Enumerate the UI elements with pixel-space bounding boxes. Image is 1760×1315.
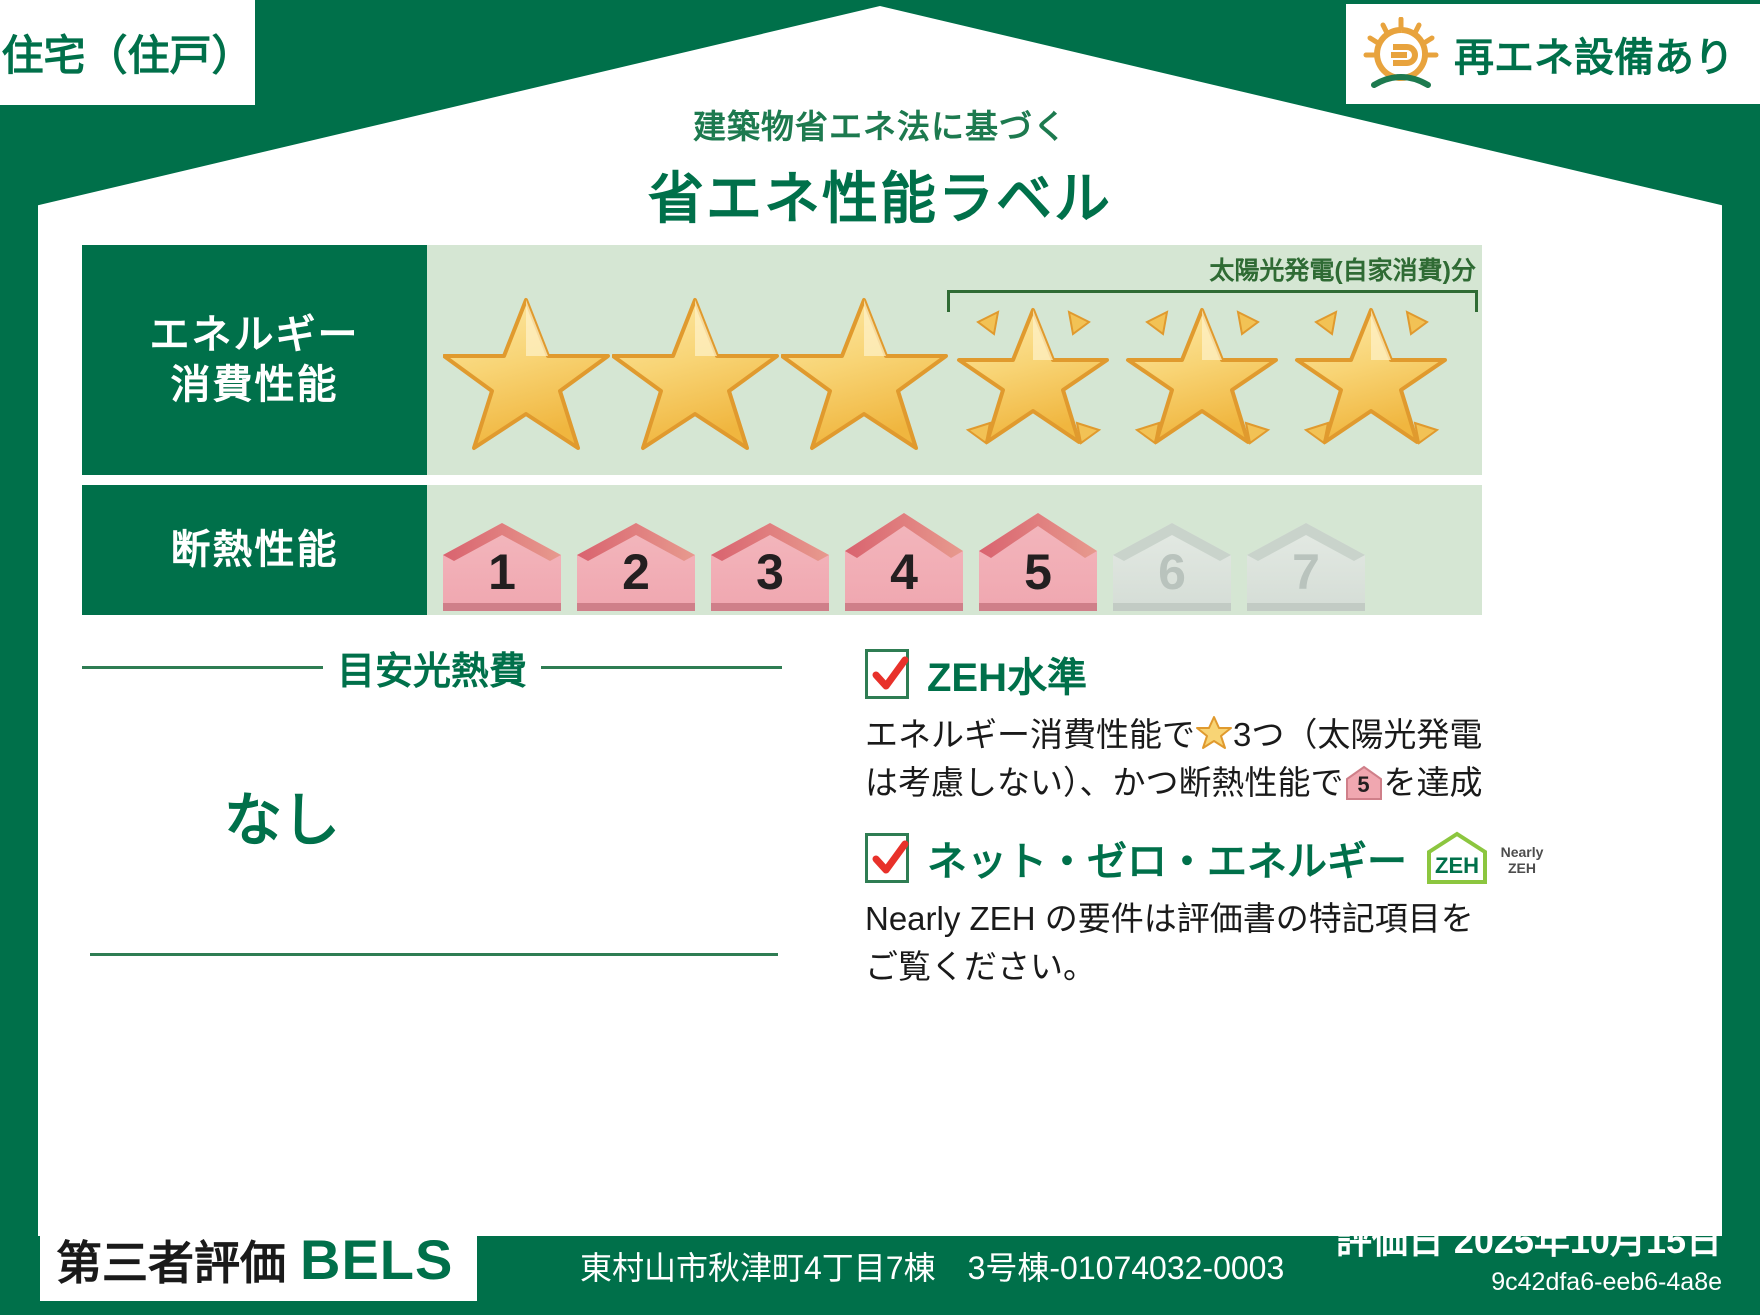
energy-performance-value: 太陽光発電(自家消費)分: [427, 245, 1482, 475]
zeh-desc-part-a: エネルギー消費性能で: [865, 716, 1195, 753]
renewable-badge-label: 再エネ設備あり: [1454, 25, 1734, 83]
zeh-section: ZEH水準 エネルギー消費性能で3つ（太陽光発電は考慮しない）、かつ断熱性能で5…: [865, 645, 1485, 990]
zeh-desc-part-d: を達成: [1384, 764, 1483, 801]
zeh-standard-row: ZEH水準: [865, 645, 1485, 703]
bels-logo-en: BELS: [300, 1227, 453, 1292]
insulation-grade-scale: 1 2: [427, 485, 1371, 615]
utility-cost-header: 目安光熱費: [82, 640, 782, 695]
insulation-grade-3-number: 3: [705, 543, 835, 601]
star-icon-4-solar: [950, 278, 1117, 453]
evaluation-date: 評価日 2025年10月15日: [1336, 1212, 1722, 1264]
label-title: 省エネ性能ラベル: [0, 154, 1760, 235]
insulation-performance-label: 断熱性能: [82, 485, 427, 615]
insulation-grade-6: 6: [1107, 515, 1237, 615]
footer-bar: 第三者評価 BELS 東村山市秋津町4丁目7棟 3号棟-01074032-000…: [0, 1233, 1760, 1315]
zeh-standard-description: エネルギー消費性能で3つ（太陽光発電は考慮しない）、かつ断熱性能で5を達成: [865, 711, 1485, 807]
zeh-desc-part-c: は考慮しない）、かつ断熱性能で: [865, 764, 1344, 801]
net-zero-energy-description: Nearly ZEH の要件は評価書の特記項目をご覧ください。: [865, 895, 1485, 991]
insulation-grade-7-number: 7: [1241, 543, 1371, 601]
insulation-label-text: 断熱性能: [171, 525, 339, 575]
insulation-grade-7: 7: [1241, 515, 1371, 615]
insulation-performance-value: 1 2: [427, 485, 1482, 615]
inline-star-icon: [1195, 714, 1233, 752]
insulation-grade-1: 1: [437, 515, 567, 615]
property-address: 東村山市秋津町4丁目7棟 3号棟-01074032-0003: [580, 1243, 1284, 1289]
insulation-grade-4: 4: [839, 503, 969, 615]
title-block: 建築物省エネ法に基づく 省エネ性能ラベル: [0, 100, 1760, 235]
evaluation-info: 評価日 2025年10月15日 9c42dfa6-eeb6-4a8e: [1336, 1212, 1722, 1297]
insulation-grade-5-number: 5: [973, 543, 1103, 601]
net-zero-energy-row: ネット・ゼロ・エネルギー ZEH Nearly ZEH: [865, 829, 1485, 887]
insulation-grade-2: 2: [571, 515, 701, 615]
insulation-grade-6-number: 6: [1107, 543, 1237, 601]
cost-rule-right: [541, 666, 782, 669]
rating-rows: エネルギー 消費性能 太陽光発電(自家消費)分: [82, 245, 1482, 625]
energy-label-line1: エネルギー: [150, 310, 360, 360]
bels-logo-jp: 第三者評価: [56, 1227, 286, 1293]
nearly-zeh-logo: ZEH Nearly ZEH: [1425, 830, 1557, 886]
star-icon-1: [443, 278, 610, 453]
star-icon-5-solar: [1119, 278, 1286, 453]
net-zero-energy-checkbox[interactable]: [865, 833, 909, 883]
utility-cost-section: 目安光熱費 なし: [82, 640, 782, 956]
star-icon-2: [612, 278, 779, 453]
energy-performance-label: エネルギー 消費性能: [82, 245, 427, 475]
star-rating: [427, 278, 1455, 453]
energy-performance-row: エネルギー 消費性能 太陽光発電(自家消費)分: [82, 245, 1482, 475]
insulation-grade-2-number: 2: [571, 543, 701, 601]
zeh-standard-title: ZEH水準: [927, 645, 1087, 703]
net-zero-energy-title: ネット・ゼロ・エネルギー: [927, 829, 1407, 887]
bels-energy-label: 住宅（住戸） 再エネ設備あり 建築: [0, 0, 1760, 1315]
solar-sun-icon: [1362, 17, 1440, 91]
energy-label-line2: 消費性能: [171, 360, 339, 410]
category-badge-label: 住宅（住戸）: [1, 22, 253, 83]
utility-cost-title: 目安光熱費: [337, 640, 527, 695]
svg-text:Nearly: Nearly: [1501, 844, 1544, 860]
insulation-performance-row: 断熱性能: [82, 485, 1482, 615]
insulation-grade-4-number: 4: [839, 543, 969, 601]
star-icon-6-solar: [1288, 278, 1455, 453]
star-icon-3: [781, 278, 948, 453]
label-subtitle: 建築物省エネ法に基づく: [0, 100, 1760, 148]
bels-logo: 第三者評価 BELS: [40, 1221, 477, 1301]
category-badge: 住宅（住戸）: [0, 0, 255, 105]
evaluation-id: 9c42dfa6-eeb6-4a8e: [1336, 1268, 1722, 1297]
inline-insulation-badge-icon: 5: [1344, 764, 1384, 802]
svg-text:ZEH: ZEH: [1508, 860, 1536, 876]
cost-rule-left: [82, 666, 323, 669]
zeh-standard-checkbox[interactable]: [865, 649, 909, 699]
renewable-equipment-badge: 再エネ設備あり: [1346, 4, 1760, 104]
insulation-grade-1-number: 1: [437, 543, 567, 601]
zeh-desc-part-b: 3つ（太陽光発電: [1233, 716, 1482, 753]
insulation-grade-5: 5: [973, 503, 1103, 615]
insulation-grade-3: 3: [705, 515, 835, 615]
utility-cost-value: なし: [82, 773, 782, 857]
inline-insulation-badge-number: 5: [1344, 769, 1384, 801]
svg-text:ZEH: ZEH: [1435, 853, 1479, 878]
cost-bottom-rule: [90, 953, 778, 956]
